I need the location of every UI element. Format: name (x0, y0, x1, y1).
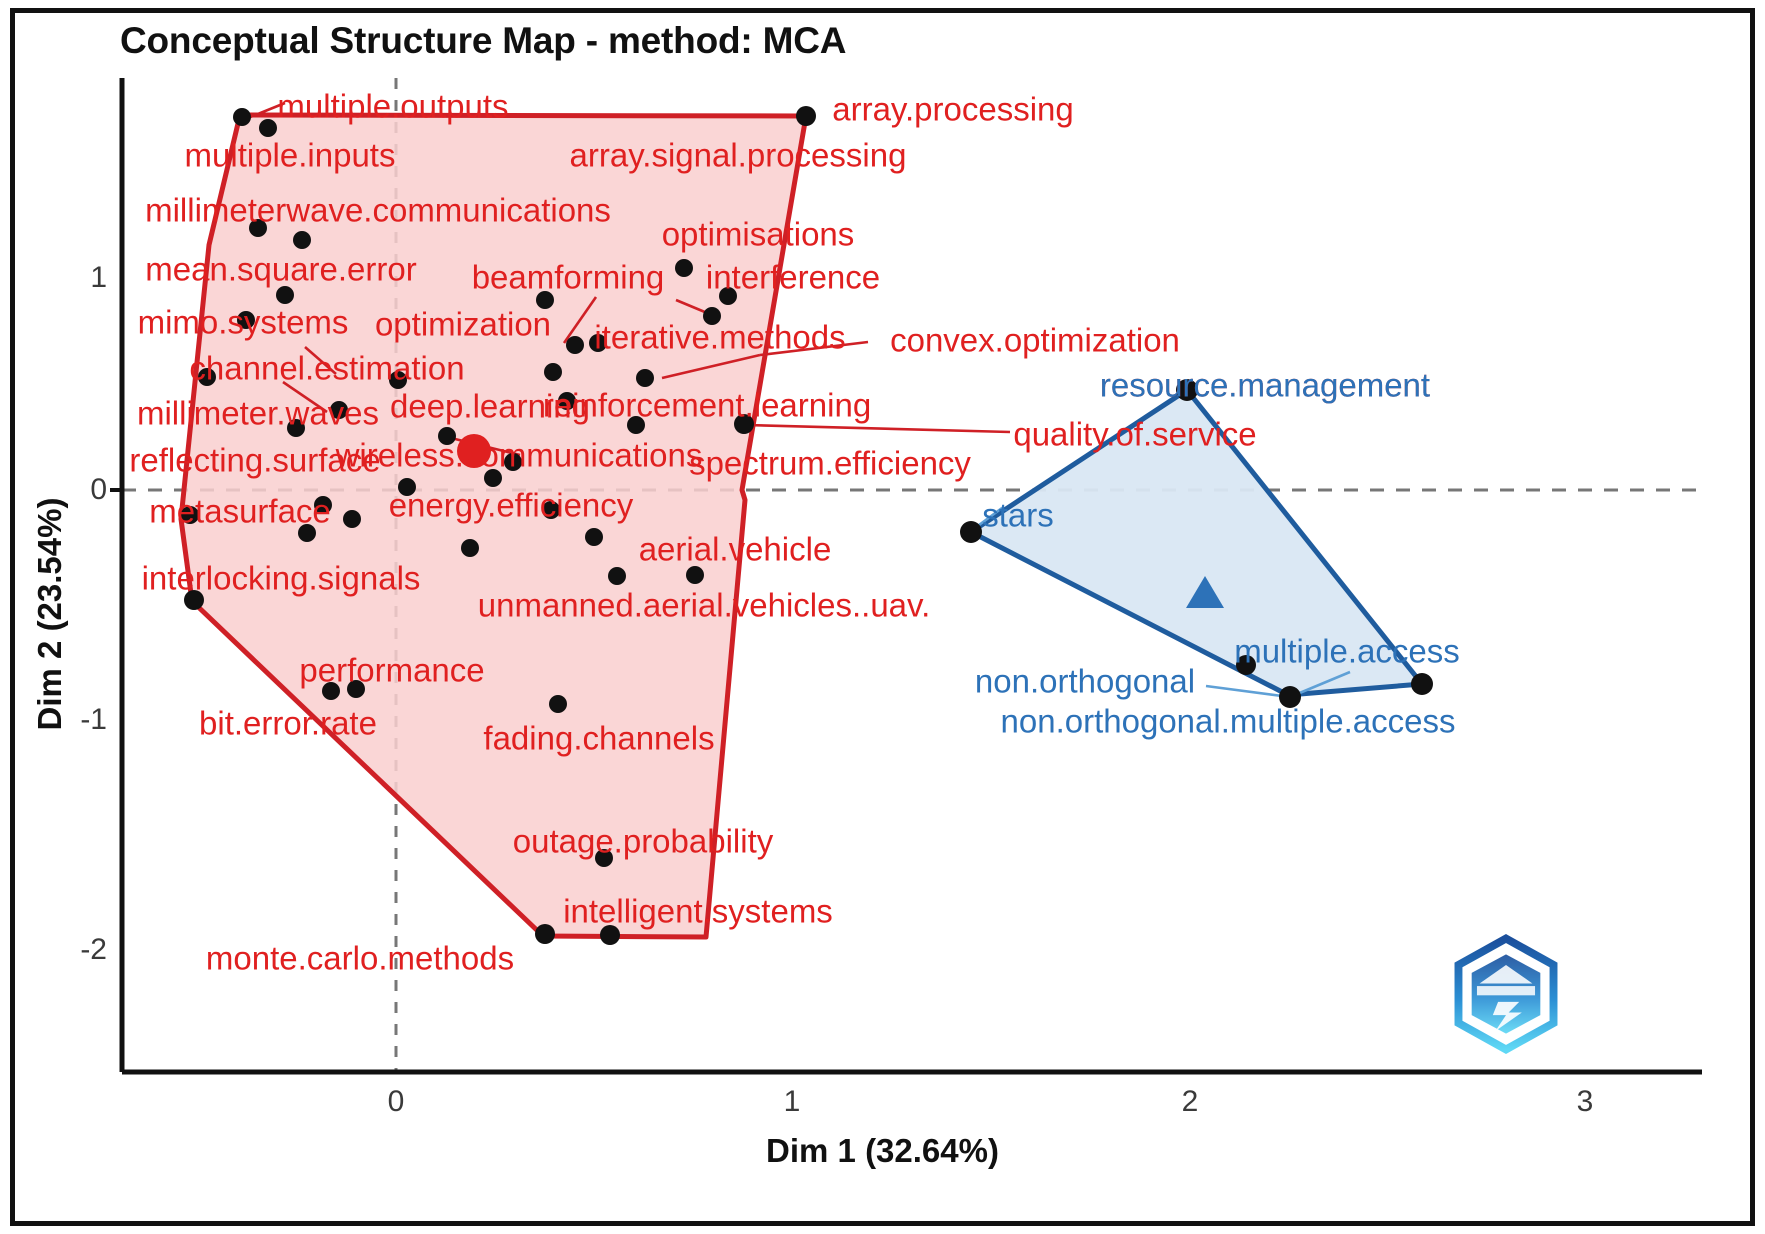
page-title: Conceptual Structure Map - method: MCA (120, 20, 846, 62)
y-axis-title: Dim 2 (23.54%) (31, 264, 69, 964)
term-label-array-signal-processing: array.signal.processing (570, 139, 907, 172)
term-label-wireless-communications: wireless.communications (336, 439, 703, 472)
term-label-stars: stars (982, 499, 1054, 532)
x-tick-label-0: 0 (388, 1085, 405, 1119)
term-label-beamforming: beamforming (472, 261, 665, 294)
term-label-mean-square-error: mean.square.error (145, 253, 416, 286)
term-label-metasurface: metasurface (149, 495, 331, 528)
term-label-iterative-methods: iterative.methods (594, 321, 845, 354)
term-label-performance: performance (299, 654, 484, 687)
term-label-optimization: optimization (375, 308, 551, 341)
term-label-millimeter-waves: millimeter.waves (137, 397, 379, 430)
term-label-interlocking-signals: interlocking.signals (142, 562, 421, 595)
term-label-non-orthogonal-multiple-access: non.orthogonal.multiple.access (1001, 705, 1456, 738)
term-label-convex-optimization: convex.optimization (890, 324, 1180, 357)
term-label-resource-management: resource.management (1100, 369, 1430, 402)
x-axis-title: Dim 1 (32.64%) (0, 1132, 1765, 1170)
term-label-energy-efficiency: energy.efficiency (389, 489, 634, 522)
hexagon-watermark-logo (1440, 928, 1572, 1060)
term-label-intelligent-systems: intelligent.systems (563, 895, 833, 928)
x-tick-label-2: 2 (1182, 1085, 1199, 1119)
figure-root: Conceptual Structure Map - method: MCA D… (0, 0, 1765, 1234)
term-label-unmanned-aerial-vehicles--uav-: unmanned.aerial.vehicles..uav. (478, 589, 931, 622)
y-tick-label-0: 1 (55, 261, 107, 295)
term-label-mimo-systems: mimo.systems (138, 306, 349, 339)
term-label-outage-probability: outage.probability (513, 825, 774, 858)
term-label-non-orthogonal: non.orthogonal (975, 665, 1195, 698)
y-tick-label-3: -2 (55, 933, 107, 967)
term-label-fading-channels: fading.channels (483, 722, 714, 755)
term-label-reinforcement-learning: reinforcement.learning (543, 389, 871, 422)
x-tick-label-3: 3 (1577, 1085, 1594, 1119)
term-label-multiple-access: multiple.access (1234, 635, 1460, 668)
term-label-multiple-outputs: multiple.outputs (277, 90, 508, 123)
term-label-aerial-vehicle: aerial.vehicle (639, 533, 832, 566)
term-label-multiple-inputs: multiple.inputs (185, 139, 396, 172)
y-tick-label-1: 0 (55, 473, 107, 507)
term-label-optimisations: optimisations (662, 218, 855, 251)
term-label-spectrum-efficiency: spectrum.efficiency (689, 447, 971, 480)
term-label-channel-estimation: channel.estimation (189, 352, 464, 385)
term-label-bit-error-rate: bit.error.rate (199, 707, 377, 740)
term-label-quality-of-service: quality.of.service (1013, 418, 1256, 451)
y-tick-label-2: -1 (55, 703, 107, 737)
x-tick-label-1: 1 (784, 1085, 801, 1119)
term-label-monte-carlo-methods: monte.carlo.methods (206, 942, 514, 975)
term-label-millimeterwave-communications: millimeterwave.communications (145, 194, 611, 227)
term-label-array-processing: array.processing (832, 93, 1074, 126)
term-label-interference: interference (706, 261, 880, 294)
